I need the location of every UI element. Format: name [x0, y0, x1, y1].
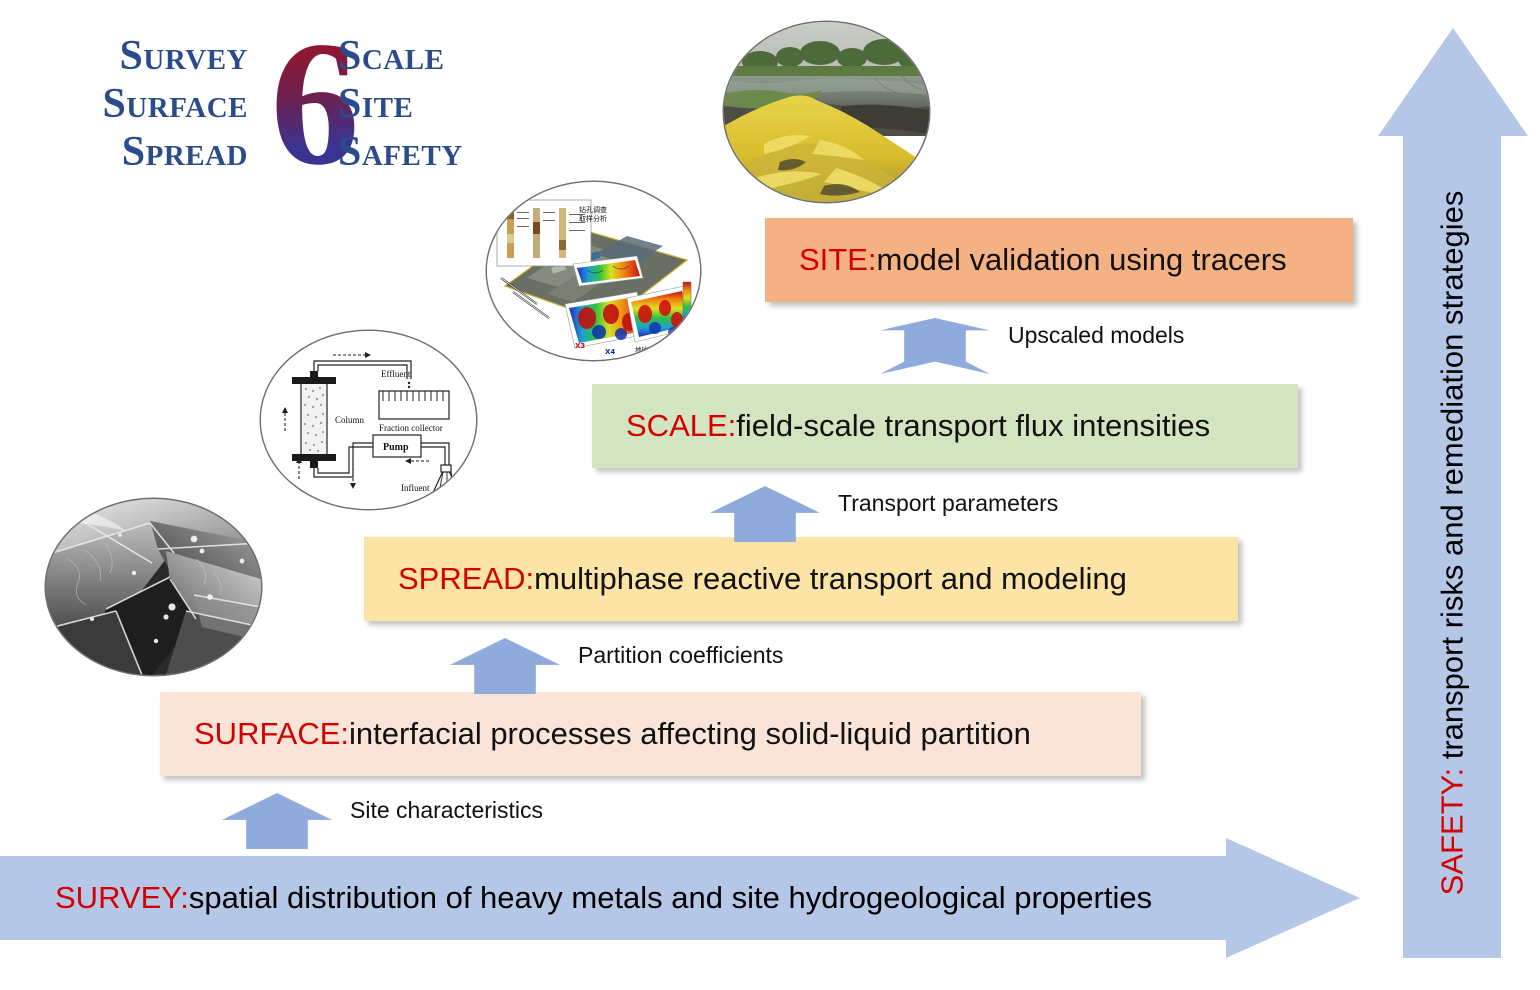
field-site-photo: [724, 22, 929, 202]
survey-arrow-label: SURVEY: spatial distribution of heavy me…: [55, 856, 1152, 940]
svg-text:钻孔调查: 钻孔调查: [579, 205, 607, 214]
svg-text:X4: X4: [605, 348, 615, 356]
svg-text:取样分析: 取样分析: [579, 214, 607, 223]
logo-6s: Survey Surface Spread 6 Scale Site Safet…: [38, 32, 538, 182]
tier-keyword-survey: SURVEY:: [55, 880, 189, 916]
tier-keyword-scale: SCALE:: [626, 408, 736, 444]
survey-arrow-head: [1226, 838, 1360, 958]
up-arrow-icon: [450, 638, 560, 694]
svg-text:Column: Column: [335, 415, 365, 425]
tier-keyword-surface: SURFACE:: [194, 716, 349, 752]
tier-description-survey: spatial distribution of heavy metals and…: [189, 880, 1152, 916]
svg-text:Pump: Pump: [383, 442, 409, 453]
logo-word-scale: Scale: [338, 32, 538, 80]
safety-keyword: SAFETY:: [1434, 768, 1469, 895]
geophysical-survey-visualization: 钻孔调查 取样分析: [487, 182, 700, 360]
double-chevron-up-icon: [880, 318, 990, 374]
svg-text:Influent: Influent: [401, 483, 430, 493]
logo-word-surface: Surface: [38, 80, 248, 128]
logo-word-survey: Survey: [38, 32, 248, 80]
logo-word-spread: Spread: [38, 128, 248, 176]
tier-box-scale[interactable]: SCALE: field-scale transport flux intens…: [592, 384, 1298, 468]
tier-description-surface: interfacial processes affecting solid-li…: [349, 716, 1031, 752]
svg-text:地球物理方法探测: 地球物理方法探测: [635, 345, 688, 354]
safety-arrow-label: SAFETY: transport risks and remediation …: [1403, 128, 1501, 958]
logo-right-words: Scale Site Safety: [338, 32, 538, 176]
svg-text:Effluent: Effluent: [381, 369, 411, 379]
tier-box-site[interactable]: SITE: model validation using tracers: [765, 218, 1353, 302]
connector-label-partition-coefficients: Partition coefficients: [578, 642, 783, 669]
safety-arrow[interactable]: SAFETY: transport risks and remediation …: [1378, 28, 1528, 958]
svg-text:Fraction collector: Fraction collector: [379, 423, 443, 433]
safety-arrow-head: [1378, 28, 1528, 136]
svg-text:X3: X3: [575, 342, 585, 350]
diagram-canvas: Survey Surface Spread 6 Scale Site Safet…: [0, 0, 1540, 990]
tier-arrow-survey[interactable]: SURVEY: spatial distribution of heavy me…: [0, 838, 1360, 958]
up-arrow-icon: [710, 486, 820, 542]
tier-description-site: model validation using tracers: [877, 242, 1287, 278]
tier-description-scale: field-scale transport flux intensities: [736, 408, 1210, 444]
connector-label-transport-parameters: Transport parameters: [838, 490, 1058, 517]
safety-description: transport risks and remediation strategi…: [1434, 191, 1469, 768]
logo-word-site: Site: [338, 80, 538, 128]
tier-box-spread[interactable]: SPREAD: multiphase reactive transport an…: [364, 537, 1238, 621]
sem-micrograph: [46, 499, 261, 675]
column-experiment-schematic: Effluent Column Fraction collector Pump …: [261, 331, 476, 509]
tier-keyword-spread: SPREAD:: [398, 561, 534, 597]
tier-box-surface[interactable]: SURFACE: interfacial processes affecting…: [160, 692, 1141, 776]
logo-word-safety: Safety: [338, 128, 538, 176]
tier-keyword-site: SITE:: [799, 242, 877, 278]
logo-left-words: Survey Surface Spread: [38, 32, 248, 176]
connector-label-upscaled-models: Upscaled models: [1008, 322, 1184, 349]
connector-label-site-characteristics: Site characteristics: [350, 797, 543, 824]
tier-description-spread: multiphase reactive transport and modeli…: [534, 561, 1127, 597]
